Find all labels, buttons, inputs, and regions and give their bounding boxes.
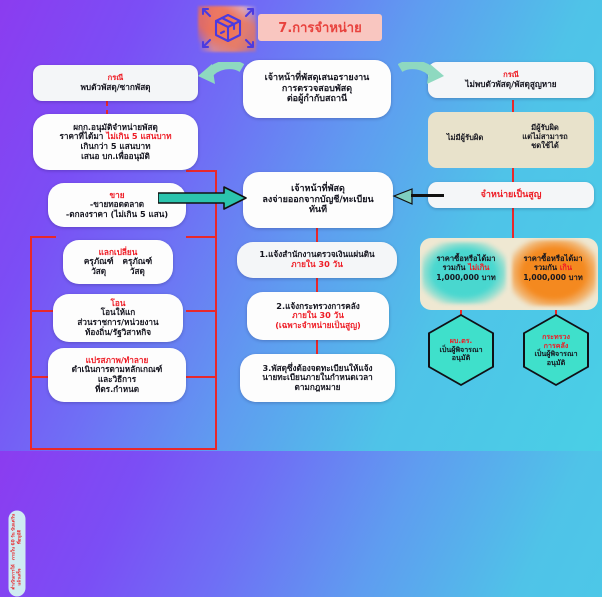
- node-exchange-col1-line2: วัสดุ: [84, 267, 114, 277]
- branch-stub-approval-right: [186, 170, 216, 172]
- arrow-writeoff-to-officer: [392, 188, 444, 206]
- node-step3-line3: ตามกฎหมาย: [295, 383, 341, 393]
- node-liability[interactable]: ไม่มีผู้รับผิด มีผู้รับผิด แต่ไม่สามารถ …: [428, 112, 594, 168]
- node-writeoff-loss-label: จำหน่ายเป็นสูญ: [481, 190, 542, 200]
- node-case-not-found[interactable]: กรณี ไม่พบตัวพัสดุ/พัสดุสูญหาย: [428, 62, 594, 98]
- branch-stub-transfer-right: [186, 376, 216, 378]
- node-price-thresholds[interactable]: ราคาซื้อหรือได้มา รวมกัน ไม่เกิน 1,000,0…: [420, 238, 598, 310]
- node-exchange-col2-line2: วัสดุ: [123, 267, 153, 277]
- arrow-start-to-casenotfound: [398, 62, 446, 94]
- node-hex-finance[interactable]: กระทรวง การคลัง เป็นผู้พิจารณา อนุมัติ: [523, 314, 589, 386]
- node-officer-writeoff[interactable]: เจ้าหน้าที่พัสดุ ลงจ่ายออกจากบัญชี/ทะเบี…: [243, 172, 393, 228]
- node-start-line1: เจ้าหน้าที่พัสดุเสนอรายงาน: [265, 73, 370, 83]
- connector-officer-step1: [316, 228, 318, 242]
- node-approval-line4: เสนอ บก.เพื่ออนุมัติ: [81, 152, 150, 162]
- node-officer-line2: ลงจ่ายออกจากบัญชี/ทะเบียน: [262, 195, 373, 205]
- node-start-line3: ต่อผู้กำกับสถานี: [287, 94, 347, 104]
- node-liability-right-line3: ชดใช้ได้: [502, 141, 588, 150]
- node-step2[interactable]: 2.แจ้งกระทรวงการคลัง ภายใน 30 วัน (เฉพาะ…: [247, 292, 389, 340]
- node-case-found-line: พบตัวพัสดุ/ซากพัสดุ: [80, 83, 150, 93]
- node-destroy-line3: ที่ตร.กำหนด: [95, 385, 139, 395]
- node-start-line2: การตรวจสอบพัสดุ: [282, 84, 352, 94]
- connector-step2-step3: [316, 340, 318, 354]
- side-note-line1: ดำเนินการให้แล้วเสร็จ: [12, 561, 22, 594]
- node-transfer[interactable]: โอน โอนให้แก ส่วนราชการ/หน่วยงาน ท้องถิ่…: [53, 294, 183, 342]
- branch-stub-sell-left: [30, 236, 56, 238]
- page-title: 7.การจำหน่าย: [258, 14, 382, 41]
- side-note-wrapper: ดำเนินการให้แล้วเสร็จ ภายใน 60 วัน นับแต…: [0, 255, 26, 371]
- arrow-start-to-casefound: [196, 62, 244, 94]
- node-approval-line2-plain: ราคาที่ได้มา: [59, 131, 103, 141]
- hex-police-line2: อนุมัติ: [452, 354, 470, 363]
- node-case-found[interactable]: กรณี พบตัวพัสดุ/ซากพัสดุ: [33, 65, 198, 101]
- node-liability-right-line2: แต่ไม่สามารถ: [502, 132, 588, 141]
- node-officer-line3: ทันที: [309, 205, 327, 215]
- node-step1-red: ภายใน 30 วัน: [291, 260, 343, 270]
- node-side-note: ดำเนินการให้แล้วเสร็จ ภายใน 60 วัน นับแต…: [9, 511, 26, 597]
- package-box-distribute-icon: [190, 2, 266, 54]
- price-exceed-line2-plain: รวมกัน: [534, 263, 557, 272]
- price-not-exceed-line2-plain: รวมกัน: [442, 263, 465, 272]
- price-not-exceed-line3: 1,000,000 บาท: [423, 273, 509, 282]
- branch-stub-destroy-bottom: [30, 448, 215, 450]
- node-case-not-found-line: ไม่พบตัวพัสดุ/พัสดุสูญหาย: [465, 80, 556, 90]
- node-sell-line2: -ตกลงราคา (ไม่เกิน 5 แสน): [66, 210, 168, 220]
- side-note-line2: ภายใน 60 วัน นับแต่วันที่อนุมัติ: [12, 514, 22, 561]
- node-price-not-exceed: ราคาซื้อหรือได้มา รวมกัน ไม่เกิน 1,000,0…: [423, 254, 509, 282]
- price-not-exceed-line1: ราคาซื้อหรือได้มา: [423, 254, 509, 263]
- node-writeoff-loss[interactable]: จำหน่ายเป็นสูญ: [428, 182, 594, 208]
- price-not-exceed-line2-red: ไม่เกิน: [468, 263, 489, 272]
- price-exceed-line1: ราคาซื้อหรือได้มา: [510, 254, 596, 263]
- node-destroy[interactable]: แปรสภาพ/ทำลาย ดำเนินการตามหลักเกณฑ์ และว…: [48, 348, 186, 402]
- node-step1[interactable]: 1.แจ้งสำนักงานตรวจเงินแผ่นดิน ภายใน 30 ว…: [237, 242, 397, 278]
- node-exchange[interactable]: แลกเปลี่ยน ครุภัณฑ์ วัสดุ ครุภัณฑ์ วัสดุ: [63, 240, 173, 284]
- diagram-canvas: 7.การจำหน่าย เจ้าหน้าท: [0, 0, 602, 451]
- branch-bus-left: [30, 236, 32, 450]
- node-liability-right-line1: มีผู้รับผิด: [502, 123, 588, 132]
- branch-stub-sell-right: [186, 236, 216, 238]
- node-price-exceed: ราคาซื้อหรือได้มา รวมกัน เกิน 1,000,000 …: [510, 254, 596, 282]
- price-exceed-line2-red: เกิน: [560, 263, 572, 272]
- node-hex-police[interactable]: ผบ.ตร. เป็นผู้พิจารณา อนุมัติ: [428, 314, 494, 386]
- node-step2-red2: (เฉพาะจำหน่ายเป็นสูญ): [275, 321, 361, 331]
- node-start[interactable]: เจ้าหน้าที่พัสดุเสนอรายงาน การตรวจสอบพัส…: [243, 60, 391, 118]
- hex-finance-line2: อนุมัติ: [547, 359, 565, 368]
- arrow-left-to-officer: [158, 186, 248, 212]
- connector-step1-step2: [316, 278, 318, 292]
- connector-writeoff-price: [512, 208, 514, 238]
- node-step3[interactable]: 3.พัสดุซึ่งต้องจดทะเบียนให้แจ้ง นายทะเบี…: [240, 354, 395, 402]
- connector-beige-writeoff: [512, 168, 514, 182]
- node-liability-left: ไม่มีผู้รับผิด: [434, 133, 496, 142]
- node-officer-line1: เจ้าหน้าที่พัสดุ: [291, 184, 345, 194]
- price-exceed-line3: 1,000,000 บาท: [510, 273, 596, 282]
- node-transfer-line3: ท้องถิ่น/รัฐวิสาหกิจ: [85, 328, 151, 338]
- node-approval-line2-red: ไม่เกิน 5 แสนบาท: [106, 131, 171, 141]
- node-approval[interactable]: ผกก.อนุมัติจำหน่ายพัสดุ ราคาที่ได้มา ไม่…: [33, 114, 198, 170]
- branch-stub-exchange-right: [186, 310, 216, 312]
